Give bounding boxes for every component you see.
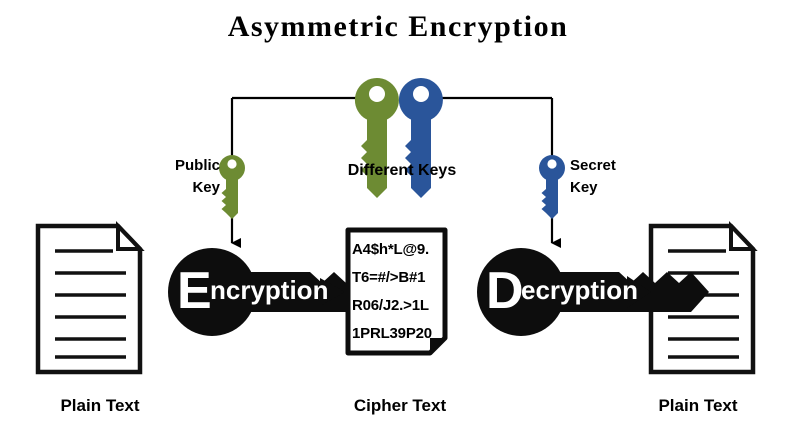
different-keys-label: Different Keys <box>322 162 482 180</box>
cipher-text-label: Cipher Text <box>300 396 500 416</box>
cipher-text-line: T6=#/>B#1 <box>352 269 425 286</box>
cipher-text-line: R06/J2.>1L <box>352 297 429 314</box>
public-key-small-icon <box>219 155 245 219</box>
secret-key-label: Secret Key <box>570 155 650 199</box>
encryption-label: ncryption <box>210 275 328 306</box>
diagram-graphics <box>0 0 796 435</box>
cipher-text-line: A4$h*L@9. <box>352 241 429 258</box>
diagram-canvas: Asymmetric Encryption <box>0 0 796 435</box>
secret-key-large-icon <box>399 78 443 198</box>
cipher-text-line: 1PRL39P20 <box>352 325 432 342</box>
public-key-label: Public Key <box>150 155 220 199</box>
plain-text-document-left <box>38 226 140 372</box>
secret-key-small-icon <box>539 155 565 219</box>
plain-text-left-label: Plain Text <box>0 396 200 416</box>
decryption-label: ecryption <box>521 275 638 306</box>
decryption-initial: D <box>486 261 524 321</box>
encryption-initial: E <box>177 261 212 321</box>
plain-text-right-label: Plain Text <box>600 396 796 416</box>
public-key-large-icon <box>355 78 399 198</box>
